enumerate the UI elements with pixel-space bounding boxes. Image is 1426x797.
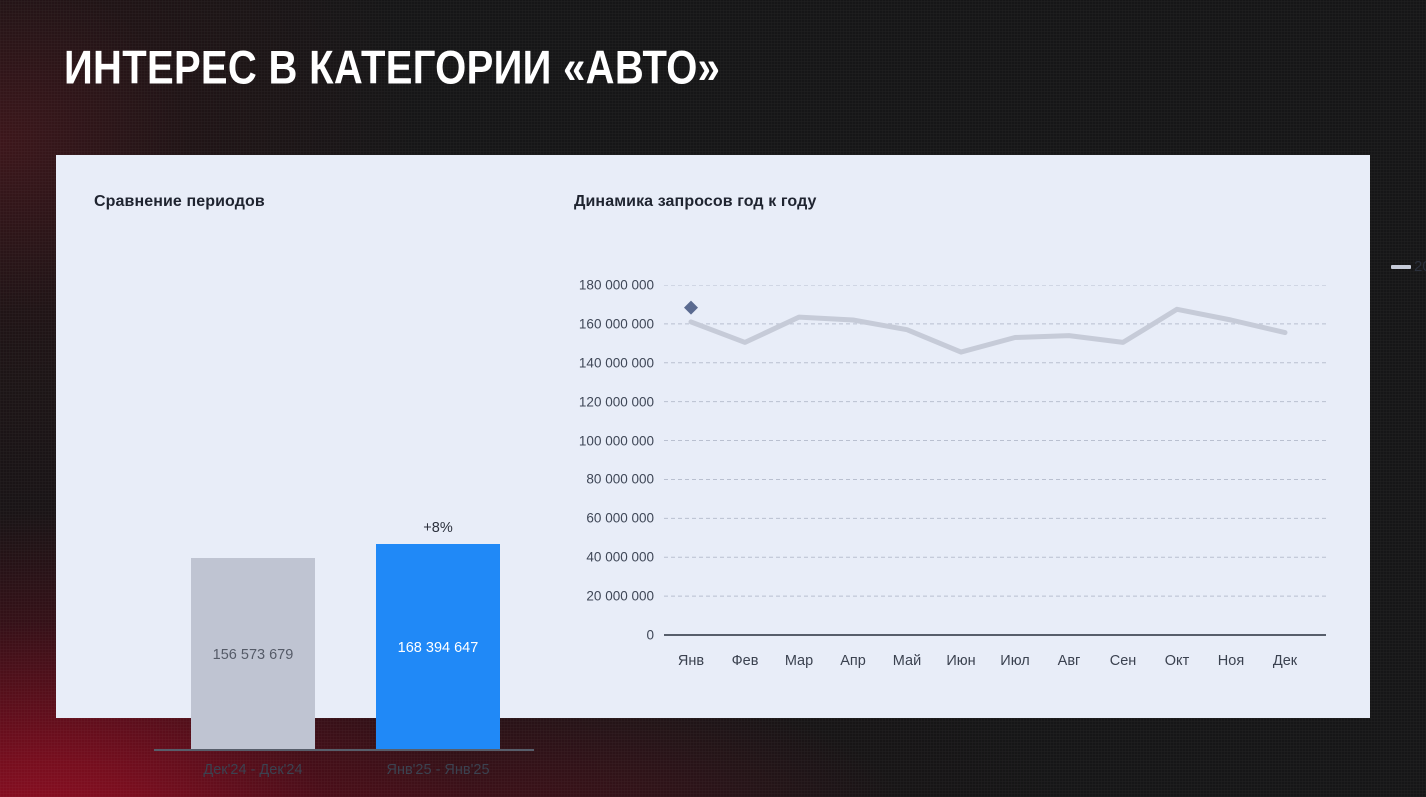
bar-delta-label: +8%	[376, 520, 500, 536]
bar-category-label-0: Дек'24 - Дек'24	[163, 762, 343, 778]
line-chart-plot-area: ЯнвФевМарАпрМайИюнИюлАвгСенОктНояДек	[664, 285, 1332, 686]
panel-period-comparison: Сравнение периодов 156 573 679 168 394 6…	[56, 155, 536, 718]
x-axis-tick-label: Сен	[1110, 653, 1137, 669]
y-axis-tick-label: 0	[536, 628, 654, 643]
bar-value-1: 168 394 647	[376, 640, 500, 656]
y-axis-tick-label: 40 000 000	[536, 550, 654, 565]
bar-value-0: 156 573 679	[191, 647, 315, 663]
y-axis-tick-label: 180 000 000	[536, 278, 654, 293]
bar-chart: 156 573 679 168 394 647 +8% Дек'24 - Дек…	[96, 260, 521, 797]
line-chart-legend: 2024 2025	[1391, 258, 1426, 275]
page-title: ИНТЕРЕС В КАТЕГОРИИ «АВТО»	[64, 42, 720, 95]
bar-category-label-1: Янв'25 - Янв'25	[348, 762, 528, 778]
x-axis-tick-label: Дек	[1273, 653, 1297, 669]
x-axis-tick-label: Апр	[840, 653, 866, 669]
x-axis-tick-label: Янв	[678, 653, 704, 669]
bar-chart-axis-line	[154, 749, 534, 751]
y-axis-tick-label: 60 000 000	[536, 511, 654, 526]
y-axis-tick-label: 80 000 000	[536, 472, 654, 487]
legend-label-2024: 2024	[1414, 258, 1426, 275]
legend-swatch-icon-2024	[1391, 265, 1411, 269]
y-axis-tick-label: 160 000 000	[536, 316, 654, 331]
x-axis-tick-label: Июн	[946, 653, 975, 669]
x-axis-tick-label: Авг	[1058, 653, 1081, 669]
x-axis-tick-label: Фев	[732, 653, 759, 669]
line-chart: 180 000 000160 000 000140 000 000120 000…	[536, 155, 1370, 718]
legend-item-2024[interactable]: 2024	[1391, 258, 1426, 275]
x-axis-tick-label: Окт	[1165, 653, 1189, 669]
x-axis-tick-label: Ноя	[1218, 653, 1244, 669]
panel-title-left: Сравнение периодов	[94, 193, 536, 211]
data-point-marker-2025	[684, 301, 698, 315]
y-axis-tick-label: 20 000 000	[536, 589, 654, 604]
x-axis-tick-label: Мар	[785, 653, 813, 669]
y-axis-tick-label: 140 000 000	[536, 355, 654, 370]
line-series-2024	[691, 309, 1285, 352]
content-card: Сравнение периодов 156 573 679 168 394 6…	[56, 155, 1370, 718]
x-axis-tick-label: Май	[893, 653, 921, 669]
x-axis-tick-label: Июл	[1000, 653, 1029, 669]
y-axis-tick-label: 120 000 000	[536, 394, 654, 409]
panel-yoy-dynamics: Динамика запросов год к году 2024 2025 1…	[536, 155, 1370, 718]
y-axis-tick-label: 100 000 000	[536, 433, 654, 448]
line-chart-svg	[664, 285, 1332, 681]
